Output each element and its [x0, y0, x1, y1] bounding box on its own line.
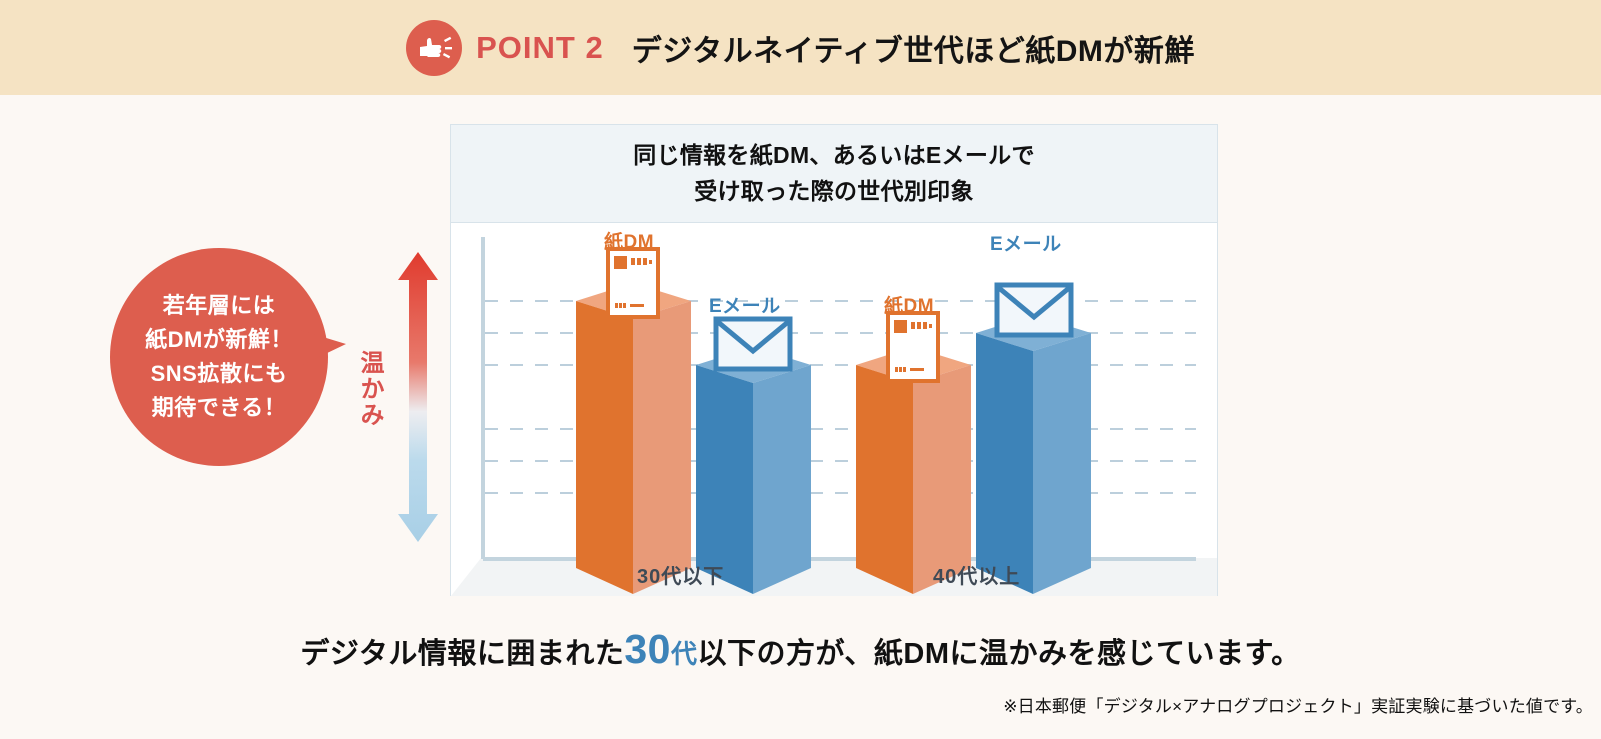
series-label-paper-group2: 紙DM [884, 291, 934, 318]
page-title: デジタルネイティブ世代ほど紙DMが新鮮 [632, 26, 1195, 70]
summary-caption: デジタル情報に囲まれた30代以下の方が、紙DMに温かみを感じています。 [0, 626, 1601, 673]
warmth-arrow-icon [396, 252, 440, 542]
envelope-icon [997, 285, 1071, 335]
postcard-icon [608, 249, 658, 317]
series-label-paper-group1: 紙DM [604, 227, 654, 254]
postcard-icon [888, 313, 938, 381]
warmth-axis-label: 温かみ [352, 350, 387, 428]
bubble-line-2: 紙DMが新鮮！ [145, 323, 293, 357]
bubble-line-4: 期待できる！ [152, 391, 287, 425]
speech-bubble: 若年層には 紙DMが新鮮！ SNS拡散にも 期待できる！ [110, 248, 328, 466]
header-inner: POINT 2 デジタルネイティブ世代ほど紙DMが新鮮 [406, 20, 1195, 76]
chart-card: 同じ情報を紙DM、あるいはEメールで 受け取った際の世代別印象 [450, 124, 1218, 596]
chart-plot-area: 紙DM Eメール 紙DM Eメール 30代以下 40代以上 [451, 223, 1217, 596]
header-band: POINT 2 デジタルネイティブ世代ほど紙DMが新鮮 [0, 0, 1601, 95]
bubble-line-1: 若年層には [163, 289, 276, 323]
bubble-line-3: SNS拡散にも [151, 357, 288, 391]
bar-paper-group1 [576, 283, 691, 594]
category-label-1: 30代以下 [637, 560, 724, 589]
bar-chart-svg [451, 223, 1217, 596]
infographic-page: POINT 2 デジタルネイティブ世代ほど紙DMが新鮮 若年層には 紙DMが新鮮… [0, 0, 1601, 739]
category-label-2: 40代以上 [933, 560, 1020, 589]
envelope-icon [716, 319, 790, 369]
pointing-hand-icon [406, 20, 462, 76]
caption-highlight-unit: 代 [671, 639, 698, 669]
caption-highlight-number: 30 [624, 626, 671, 672]
series-label-email-group2: Eメール [990, 229, 1062, 256]
caption-prefix: デジタル情報に囲まれた [300, 638, 624, 670]
series-label-email-group1: Eメール [709, 291, 781, 318]
speech-bubble-tail [300, 330, 346, 366]
bar-email-group1 [696, 347, 811, 594]
point-number-label: POINT 2 [476, 30, 604, 66]
footnote: ※日本郵便「デジタル×アナログプロジェクト」実証実験に基づいた値です。 [1003, 692, 1593, 717]
caption-suffix: 以下の方が、紙DMに温かみを感じています。 [697, 638, 1300, 670]
chart-title: 同じ情報を紙DM、あるいはEメールで 受け取った際の世代別印象 [451, 125, 1217, 223]
bar-email-group2 [976, 315, 1091, 594]
chart-title-line-2: 受け取った際の世代別印象 [694, 174, 974, 210]
bar-paper-group2 [856, 347, 971, 594]
chart-title-line-1: 同じ情報を紙DM、あるいはEメールで [633, 138, 1035, 174]
